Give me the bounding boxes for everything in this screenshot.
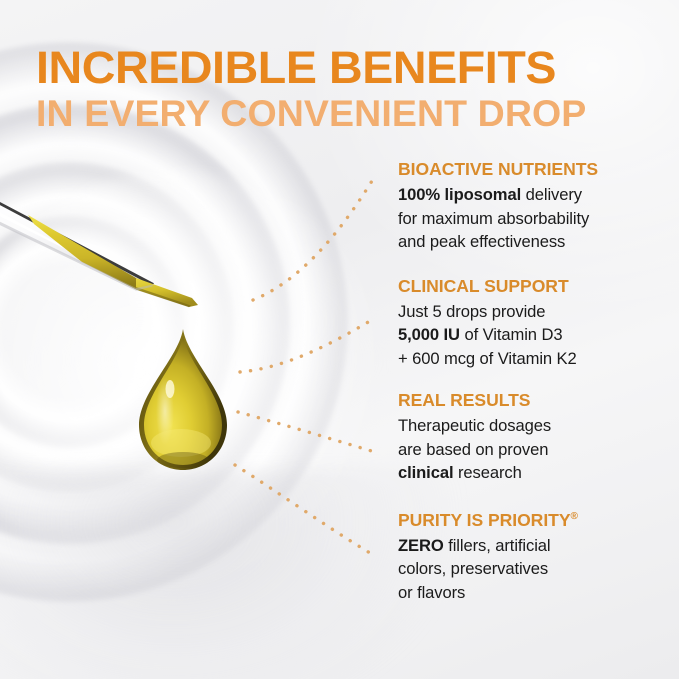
- benefit-body-line: are based on proven: [398, 438, 660, 462]
- benefit-body-line: colors, preservatives: [398, 557, 660, 581]
- benefit-title: CLINICAL SUPPORT: [398, 275, 663, 297]
- headline-line-1: INCREDIBLE BENEFITS: [36, 44, 673, 91]
- bottom-shadow: [0, 470, 460, 679]
- benefits-list: BIOACTIVE NUTRIENTS 100% liposomal deliv…: [398, 158, 660, 604]
- benefit-body-line: 100% liposomal delivery: [398, 183, 660, 207]
- benefit-title: REAL RESULTS: [398, 389, 663, 411]
- benefit-body-line: or flavors: [398, 581, 660, 605]
- benefits-infographic: INCREDIBLE BENEFITS IN EVERY CONVENIENT …: [0, 0, 679, 679]
- headline: INCREDIBLE BENEFITS IN EVERY CONVENIENT …: [36, 44, 651, 134]
- benefit-title-text: BIOACTIVE NUTRIENTS: [398, 159, 598, 179]
- benefit-body: Therapeutic dosagesare based on provencl…: [398, 414, 660, 485]
- glass-dropper-pipette: [0, 158, 236, 308]
- oil-drop-bottom-shade: [157, 452, 209, 468]
- pipette-top-edge: [0, 192, 154, 286]
- benefit-block-purity-is-priority: PURITY IS PRIORITY® ZERO fillers, artifi…: [398, 509, 660, 605]
- benefit-title: BIOACTIVE NUTRIENTS: [398, 158, 663, 180]
- benefit-body-line: ZERO fillers, artificial: [398, 534, 660, 558]
- pipette-glass-body: [0, 192, 154, 289]
- benefit-title: PURITY IS PRIORITY®: [398, 509, 663, 531]
- headline-line-2: IN EVERY CONVENIENT DROP: [36, 93, 651, 134]
- benefit-body-line: Just 5 drops provide: [398, 300, 660, 324]
- benefit-body-line: for maximum absorbability: [398, 207, 660, 231]
- benefit-block-bioactive-nutrients: BIOACTIVE NUTRIENTS 100% liposomal deliv…: [398, 158, 660, 254]
- benefit-body: 100% liposomal deliveryfor maximum absor…: [398, 183, 660, 254]
- benefit-body: Just 5 drops provide5,000 IU of Vitamin …: [398, 300, 660, 371]
- benefit-block-clinical-support: CLINICAL SUPPORT Just 5 drops provide5,0…: [398, 275, 660, 371]
- benefit-title-text: CLINICAL SUPPORT: [398, 276, 569, 296]
- pipette-oil-fill: [28, 215, 152, 290]
- benefit-body-line: Therapeutic dosages: [398, 414, 660, 438]
- benefit-body-line: 5,000 IU of Vitamin D3: [398, 323, 660, 347]
- benefit-body-line: and peak effectiveness: [398, 230, 660, 254]
- benefit-body: ZERO fillers, artificialcolors, preserva…: [398, 534, 660, 605]
- benefit-block-real-results: REAL RESULTS Therapeutic dosagesare base…: [398, 389, 660, 485]
- benefit-title-text: REAL RESULTS: [398, 390, 530, 410]
- benefit-body-line: + 600 mcg of Vitamin K2: [398, 347, 660, 371]
- benefit-title-text: PURITY IS PRIORITY: [398, 510, 571, 530]
- benefit-body-line: clinical research: [398, 461, 660, 485]
- oil-drop: [137, 327, 229, 472]
- oil-drop-specular: [166, 380, 175, 398]
- registered-trademark-symbol: ®: [571, 511, 578, 522]
